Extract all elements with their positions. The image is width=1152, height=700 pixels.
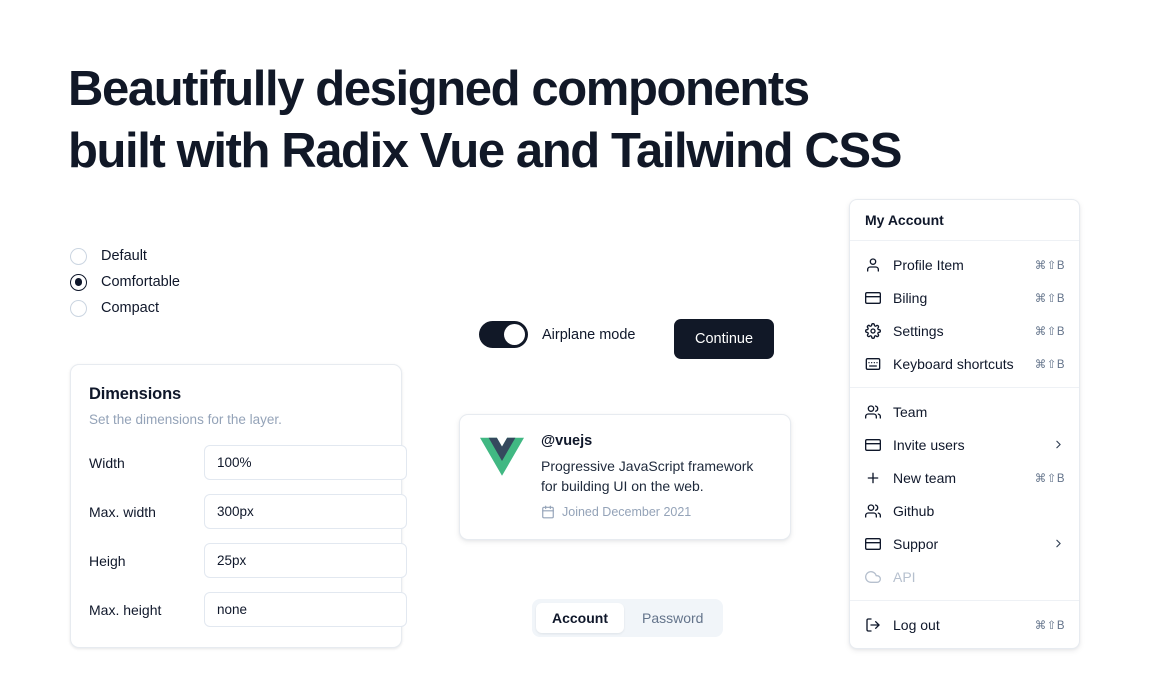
menu-item-shortcut: ⌘⇧B bbox=[1035, 324, 1065, 338]
account-dropdown-menu: My Account Profile Item⌘⇧BBiling⌘⇧BSetti… bbox=[849, 199, 1080, 649]
dimensions-card-title: Dimensions bbox=[89, 385, 383, 404]
menu-item-shortcut: ⌘⇧B bbox=[1035, 357, 1065, 371]
menu-item-label: Team bbox=[893, 404, 1065, 420]
vue-logo-icon bbox=[480, 435, 524, 479]
dimension-field-label: Max. height bbox=[89, 602, 204, 618]
menu-item-shortcut: ⌘⇧B bbox=[1035, 618, 1065, 632]
menu-item-team[interactable]: Team bbox=[850, 395, 1079, 428]
dimension-field-row: Max. height bbox=[89, 592, 383, 627]
page-root: Beautifully designed components built wi… bbox=[0, 0, 1152, 700]
page-title: Beautifully designed components built wi… bbox=[68, 58, 1028, 182]
menu-group: Log out⌘⇧B bbox=[850, 601, 1079, 648]
menu-item-settings[interactable]: Settings⌘⇧B bbox=[850, 314, 1079, 347]
airplane-mode-switch[interactable] bbox=[479, 321, 528, 348]
credit-card-icon bbox=[865, 536, 881, 552]
radio-option-label: Compact bbox=[101, 300, 159, 316]
switch-knob bbox=[504, 324, 525, 345]
menu-item-label: Profile Item bbox=[893, 257, 1023, 273]
vuejs-hover-card: @vuejs Progressive JavaScript framework … bbox=[459, 414, 791, 540]
cloud-icon bbox=[865, 569, 881, 585]
menu-item-label: Settings bbox=[893, 323, 1023, 339]
menu-item-shortcut: ⌘⇧B bbox=[1035, 291, 1065, 305]
menu-item-biling[interactable]: Biling⌘⇧B bbox=[850, 281, 1079, 314]
users-icon bbox=[865, 503, 881, 519]
hover-card-body: @vuejs Progressive JavaScript framework … bbox=[541, 433, 770, 519]
page-title-line-2: built with Radix Vue and Tailwind CSS bbox=[68, 120, 1028, 182]
menu-header-label: My Account bbox=[850, 200, 1079, 240]
continue-button[interactable]: Continue bbox=[674, 319, 774, 359]
menu-item-label: Keyboard shortcuts bbox=[893, 356, 1023, 372]
radio-indicator[interactable] bbox=[70, 248, 87, 265]
radio-option[interactable]: Comfortable bbox=[70, 273, 180, 291]
gear-icon bbox=[865, 323, 881, 339]
dimension-field-row: Width bbox=[89, 445, 383, 480]
airplane-mode-row: Airplane mode bbox=[479, 321, 636, 348]
dimension-field-row: Max. width bbox=[89, 494, 383, 529]
keyboard-icon bbox=[865, 356, 881, 372]
menu-group: Profile Item⌘⇧BBiling⌘⇧BSettings⌘⇧BKeybo… bbox=[850, 241, 1079, 387]
menu-item-label: Suppor bbox=[893, 536, 1040, 552]
menu-item-label: Log out bbox=[893, 617, 1023, 633]
menu-item-new-team[interactable]: New team⌘⇧B bbox=[850, 461, 1079, 494]
credit-card-icon bbox=[865, 290, 881, 306]
menu-item-shortcut: ⌘⇧B bbox=[1035, 258, 1065, 272]
dimensions-field-list: WidthMax. widthHeighMax. height bbox=[89, 445, 383, 627]
dimension-field-input[interactable] bbox=[204, 592, 407, 627]
dimension-field-label: Width bbox=[89, 455, 204, 471]
menu-groups: Profile Item⌘⇧BBiling⌘⇧BSettings⌘⇧BKeybo… bbox=[850, 241, 1079, 648]
dimension-field-label: Max. width bbox=[89, 504, 204, 520]
tab-account[interactable]: Account bbox=[536, 603, 624, 633]
radio-option[interactable]: Default bbox=[70, 247, 180, 265]
menu-item-label: New team bbox=[893, 470, 1023, 486]
hover-card-joined: Joined December 2021 bbox=[541, 505, 770, 519]
menu-item-api: API bbox=[850, 560, 1079, 593]
radio-option-label: Default bbox=[101, 248, 147, 264]
menu-item-profile-item[interactable]: Profile Item⌘⇧B bbox=[850, 248, 1079, 281]
airplane-mode-label: Airplane mode bbox=[542, 327, 636, 343]
menu-item-log-out[interactable]: Log out⌘⇧B bbox=[850, 608, 1079, 641]
dimension-field-row: Heigh bbox=[89, 543, 383, 578]
menu-item-label: Github bbox=[893, 503, 1065, 519]
menu-item-github[interactable]: Github bbox=[850, 494, 1079, 527]
menu-item-suppor[interactable]: Suppor bbox=[850, 527, 1079, 560]
radio-indicator[interactable] bbox=[70, 300, 87, 317]
hover-card-handle: @vuejs bbox=[541, 433, 770, 449]
calendar-icon bbox=[541, 505, 555, 519]
menu-item-label: Invite users bbox=[893, 437, 1040, 453]
logout-icon bbox=[865, 617, 881, 633]
menu-item-keyboard-shortcuts[interactable]: Keyboard shortcuts⌘⇧B bbox=[850, 347, 1079, 380]
density-radio-group[interactable]: DefaultComfortableCompact bbox=[70, 247, 180, 317]
radio-indicator[interactable] bbox=[70, 274, 87, 291]
dimension-field-input[interactable] bbox=[204, 543, 407, 578]
dimension-field-input[interactable] bbox=[204, 445, 407, 480]
chevron-right-icon bbox=[1052, 438, 1065, 451]
user-icon bbox=[865, 257, 881, 273]
dimension-field-label: Heigh bbox=[89, 553, 204, 569]
radio-option-label: Comfortable bbox=[101, 274, 180, 290]
plus-icon bbox=[865, 470, 881, 486]
users-icon bbox=[865, 404, 881, 420]
dimensions-card-subtitle: Set the dimensions for the layer. bbox=[89, 412, 383, 427]
tab-password[interactable]: Password bbox=[626, 603, 719, 633]
hero-heading: Beautifully designed components built wi… bbox=[68, 58, 1028, 182]
menu-item-label: Biling bbox=[893, 290, 1023, 306]
radio-option[interactable]: Compact bbox=[70, 299, 180, 317]
dimension-field-input[interactable] bbox=[204, 494, 407, 529]
hover-card-description: Progressive JavaScript framework for bui… bbox=[541, 456, 770, 496]
menu-item-shortcut: ⌘⇧B bbox=[1035, 471, 1065, 485]
menu-item-label: API bbox=[893, 569, 1065, 585]
joined-text: Joined December 2021 bbox=[562, 505, 691, 519]
dimensions-card: Dimensions Set the dimensions for the la… bbox=[70, 364, 402, 648]
menu-item-invite-users[interactable]: Invite users bbox=[850, 428, 1079, 461]
page-title-line-1: Beautifully designed components bbox=[68, 58, 1028, 120]
menu-group: TeamInvite usersNew team⌘⇧BGithubSupporA… bbox=[850, 388, 1079, 600]
chevron-right-icon bbox=[1052, 537, 1065, 550]
credit-card-icon bbox=[865, 437, 881, 453]
account-tabs: AccountPassword bbox=[532, 599, 723, 637]
